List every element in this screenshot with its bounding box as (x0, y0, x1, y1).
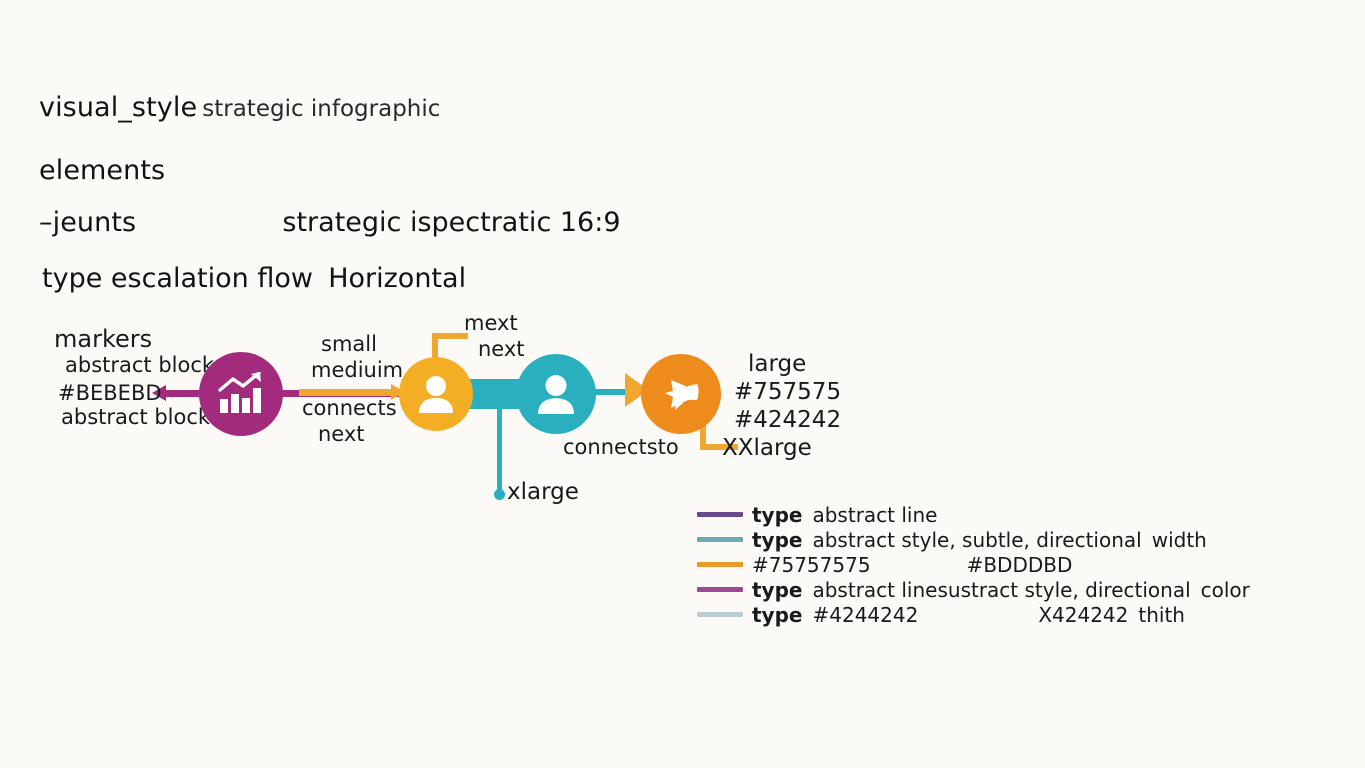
node-rocket[interactable] (641, 354, 721, 434)
connector-teal-drop (497, 400, 502, 493)
label-hex-bebebd: #BEBEBD (58, 381, 162, 405)
bar-chart-growth-icon (217, 372, 265, 416)
legend: typeabstract linetypeabstract style, sub… (697, 502, 1250, 627)
legend-trailing: thith (1138, 603, 1185, 627)
label-hex-424242: #424242 (734, 407, 841, 433)
elbow-orange-top-horizontal (432, 333, 468, 339)
person-icon (418, 375, 454, 413)
legend-row: type#4244242X424242thith (697, 602, 1250, 627)
rocket-icon (661, 376, 701, 412)
header-key-visual-style: visual_style (39, 92, 197, 123)
person-icon (537, 374, 575, 414)
label-xlarge: xlarge (507, 479, 579, 505)
header-row-jeunts: –jeunts strategic ispectratic 16:9 (39, 207, 621, 238)
legend-swatch-icon (697, 587, 743, 592)
legend-label: type#4244242X424242thith (752, 603, 1185, 627)
legend-swatch-icon (697, 512, 743, 517)
node-bar-chart[interactable] (199, 352, 283, 436)
label-mediuim: mediuim (311, 358, 403, 382)
legend-key: type (752, 503, 802, 527)
legend-text: abstract style, subtle, directional (812, 528, 1141, 552)
label-large: large (748, 351, 806, 377)
legend-key: type (752, 578, 802, 602)
legend-text: abstract line (812, 578, 937, 602)
legend-swatch-icon (697, 612, 743, 617)
header-key-jeunts: –jeunts (39, 207, 136, 238)
legend-row: #75757575#BDDDBD (697, 552, 1250, 577)
legend-row: typeabstract line (697, 502, 1250, 527)
label-next-2: next (478, 337, 525, 361)
label-markers: markers (54, 325, 152, 353)
legend-label: typeabstract line (752, 503, 937, 527)
legend-row: typeabstract linesustract style, directi… (697, 577, 1250, 602)
header-row-visual-style: visual_style strategic infographic (39, 92, 440, 123)
header-row-elements: elements (39, 155, 165, 186)
label-hex-757575: #757575 (734, 379, 841, 405)
header-row-type: type escalation flow Horizontal (42, 263, 466, 294)
teal-end-dot-icon (494, 489, 505, 500)
label-connects: connects (302, 396, 397, 420)
header-key-type: type escalation flow (42, 263, 313, 294)
label-connectsto: connectsto (563, 435, 679, 459)
legend-label: typeabstract style, subtle, directionalw… (752, 528, 1207, 552)
label-next-1: next (318, 422, 365, 446)
legend-swatch-icon (697, 562, 743, 567)
node-person-two[interactable] (516, 354, 596, 434)
legend-key: type (752, 603, 802, 627)
header-value-visual-style: strategic infographic (202, 96, 440, 122)
label-abstract-block-2: abstract block (61, 405, 210, 429)
legend-extra: X424242 (1038, 603, 1128, 627)
infographic-canvas: visual_style strategic infographic eleme… (0, 0, 1365, 768)
header-value-type: Horizontal (328, 263, 466, 294)
header-value-jeunts: strategic ispectratic 16:9 (282, 207, 620, 238)
legend-trailing: color (1201, 578, 1250, 602)
legend-text: #4244242 (812, 603, 918, 627)
legend-key: type (752, 528, 802, 552)
legend-trailing: width (1152, 528, 1207, 552)
legend-extra: #BDDDBD (967, 553, 1073, 577)
label-xxlarge: XXlarge (722, 435, 812, 461)
legend-swatch-icon (697, 537, 743, 542)
legend-label: #75757575#BDDDBD (752, 553, 1072, 577)
label-small: small (321, 332, 377, 356)
connector-orange-to-person-1 (299, 389, 397, 396)
label-mext: mext (464, 311, 518, 335)
node-person-one[interactable] (399, 357, 473, 431)
legend-text: #75757575 (752, 553, 871, 577)
label-abstract-block-1: abstract block (65, 353, 214, 377)
header-key-elements: elements (39, 155, 165, 186)
legend-row: typeabstract style, subtle, directionalw… (697, 527, 1250, 552)
legend-label: typeabstract linesustract style, directi… (752, 578, 1250, 602)
legend-text: abstract line (812, 503, 937, 527)
legend-extra: sustract style, directional (937, 578, 1190, 602)
